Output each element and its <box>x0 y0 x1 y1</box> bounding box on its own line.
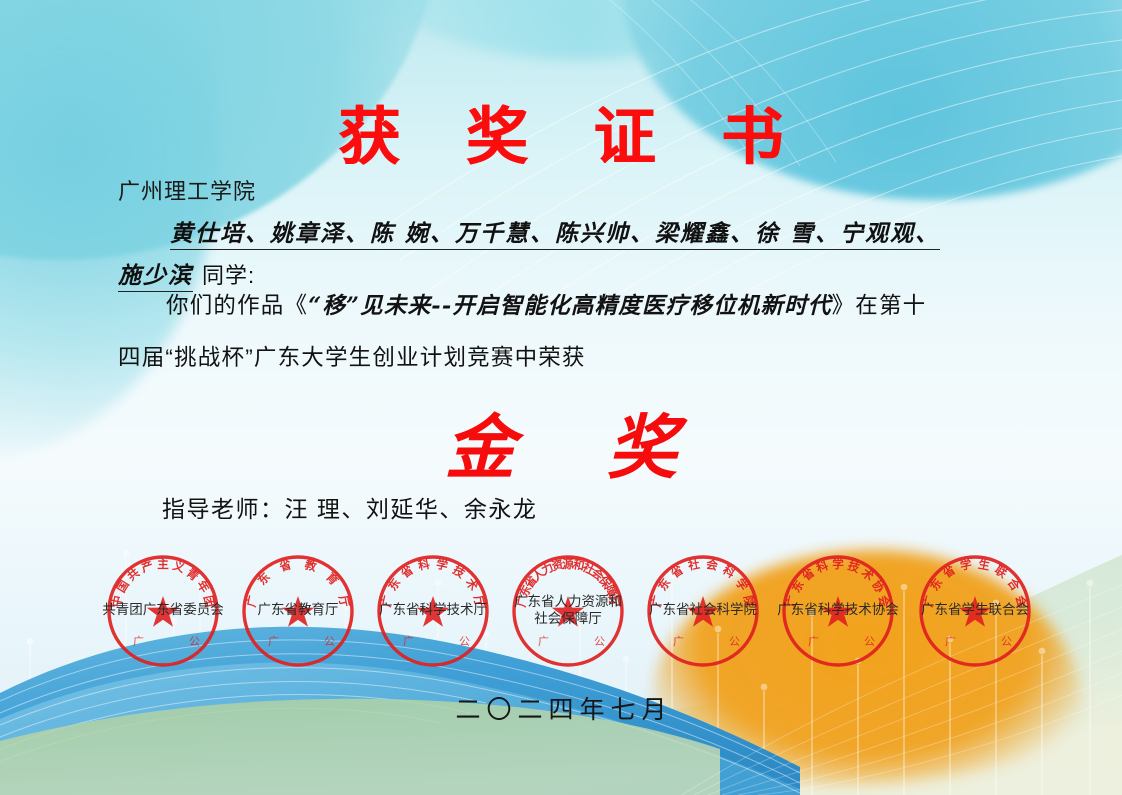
svg-text:公: 公 <box>864 635 875 648</box>
salutation: 同学: <box>202 263 255 288</box>
svg-text:会: 会 <box>704 557 719 573</box>
svg-text:公: 公 <box>324 635 335 648</box>
seal-3: 广东省人力资源和社会保障厅 广 公 广东省人力资源和社会保障厅 <box>509 552 627 668</box>
svg-text:年: 年 <box>194 578 212 596</box>
svg-text:主: 主 <box>157 557 169 571</box>
body-paragraph-line-2: 四届“挑战杯”广东大学生创业计划竞赛中荣获 <box>118 340 1068 372</box>
advisor-label: 指导老师： <box>162 496 285 522</box>
svg-text:广: 广 <box>268 635 279 648</box>
svg-text:省: 省 <box>940 562 959 581</box>
svg-text:东: 东 <box>927 575 945 593</box>
svg-text:省: 省 <box>668 562 687 581</box>
svg-text:义: 义 <box>171 558 187 575</box>
seal-label: 广东省科学技术厅 <box>356 602 510 619</box>
svg-text:技: 技 <box>846 558 862 575</box>
seal-row: 中国共产主义青年团 广 公 共青团广东省委员会 广东省教育厅 广 公 广东省教育… <box>104 552 1034 668</box>
seal-6: 广东省学生联合会 广 公 广东省学生联合会 <box>916 552 1034 668</box>
issue-date: 二〇二四年七月 <box>0 690 1122 726</box>
svg-text:育: 育 <box>323 570 341 588</box>
student-names-1: 黄仕培、姚章泽、陈 婉、万千慧、陈兴帅、梁耀鑫、徐 雪、宁观观、 <box>170 214 940 250</box>
svg-text:学: 学 <box>435 557 449 573</box>
body-suffix: 》在第十 <box>832 293 927 318</box>
svg-text:东: 东 <box>255 570 273 588</box>
svg-text:生: 生 <box>977 557 991 573</box>
svg-text:技: 技 <box>450 563 468 581</box>
svg-text:联: 联 <box>992 563 1010 581</box>
school-name: 广州理工学院 <box>118 174 256 206</box>
seal-label: 广东省人力资源和社会保障厅 <box>491 594 645 628</box>
body-prefix: 你们的作品《 <box>166 293 308 318</box>
svg-text:协: 协 <box>869 578 887 596</box>
svg-text:科: 科 <box>417 557 431 573</box>
svg-text:广: 广 <box>538 635 549 648</box>
project-title: “移”见未来--开启智能化高精度医疗移位机新时代 <box>308 293 831 319</box>
svg-text:东: 东 <box>385 575 403 593</box>
certificate-content: 获 奖 证 书 广州理工学院 黄仕培、姚章泽、陈 婉、万千慧、陈兴帅、梁耀鑫、徐… <box>0 0 1122 795</box>
seal-2: 广东省科学技术厅 广 公 广东省科学技术厅 <box>374 552 492 668</box>
page-title: 获 奖 证 书 <box>0 86 1122 176</box>
body-paragraph-line-1: 你们的作品《“移”见未来--开启智能化高精度医疗移位机新时代》在第十 <box>118 294 1068 319</box>
award-level: 金 奖 <box>0 392 1122 493</box>
svg-text:公: 公 <box>594 635 605 648</box>
advisor-line: 指导老师：汪 理、刘延华、余永龙 <box>162 490 537 524</box>
svg-text:广: 广 <box>133 635 144 648</box>
svg-text:广: 广 <box>403 635 414 648</box>
student-names-2: 施少滨 <box>118 256 193 292</box>
svg-text:省: 省 <box>799 565 818 584</box>
svg-text:共: 共 <box>125 565 143 583</box>
seal-5: 广东省科学技术协会 广 公 广东省科学技术协会 <box>779 552 897 668</box>
advisor-names: 汪 理、刘延华、余永龙 <box>285 496 538 522</box>
svg-text:广: 广 <box>673 635 684 648</box>
svg-text:学: 学 <box>959 557 973 573</box>
svg-text:公: 公 <box>459 635 470 648</box>
svg-text:产: 产 <box>140 558 156 575</box>
svg-text:合: 合 <box>1005 576 1023 594</box>
seal-label: 广东省学生联合会 <box>898 602 1052 619</box>
svg-text:科: 科 <box>815 558 831 575</box>
svg-text:省: 省 <box>398 562 417 581</box>
seal-1: 广东省教育厅 广 公 广东省教育厅 <box>239 552 357 668</box>
svg-text:公: 公 <box>729 635 740 648</box>
svg-text:公: 公 <box>1001 635 1012 648</box>
seal-label: 共青团广东省委员会 <box>86 602 240 619</box>
svg-text:学: 学 <box>832 557 844 571</box>
certificate-page: 获 奖 证 书 广州理工学院 黄仕培、姚章泽、陈 婉、万千慧、陈兴帅、梁耀鑫、徐… <box>0 0 1122 795</box>
seal-label: 广东省社会科学院 <box>626 602 780 619</box>
seal-0: 中国共产主义青年团 广 公 共青团广东省委员会 <box>104 552 222 668</box>
svg-text:科: 科 <box>720 563 738 581</box>
seal-label: 广东省教育厅 <box>221 602 375 619</box>
svg-text:学: 学 <box>733 576 751 594</box>
svg-text:教: 教 <box>302 557 318 574</box>
svg-text:术: 术 <box>462 575 481 594</box>
svg-text:公: 公 <box>189 635 200 648</box>
student-names-line-1: 黄仕培、姚章泽、陈 婉、万千慧、陈兴帅、梁耀鑫、徐 雪、宁观观、 <box>118 214 1018 250</box>
seal-label: 广东省科学技术协会 <box>761 602 915 619</box>
svg-text:省: 省 <box>277 557 293 574</box>
svg-text:广: 广 <box>808 635 819 648</box>
seal-4: 广东省社会科学院 广 公 广东省社会科学院 <box>644 552 762 668</box>
svg-text:东: 东 <box>655 575 673 593</box>
student-names-line-2: 施少滨同学: <box>118 256 255 292</box>
svg-text:广: 广 <box>945 635 956 648</box>
svg-text:社: 社 <box>686 557 701 573</box>
